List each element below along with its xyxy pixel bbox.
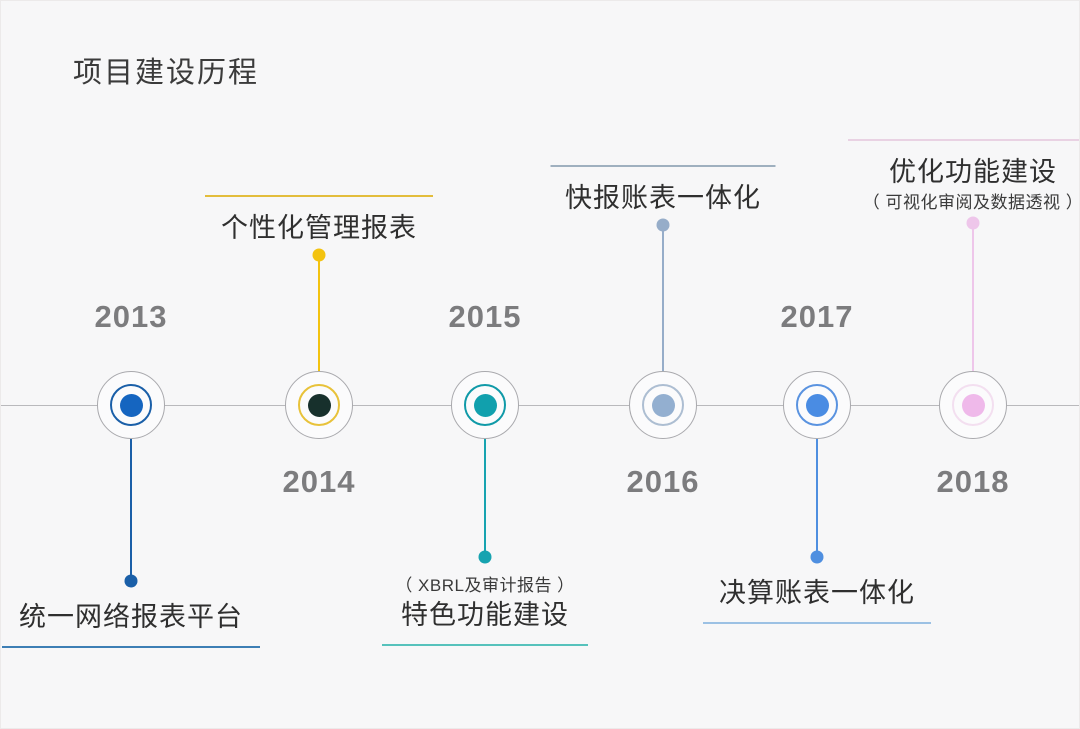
connector-endpoint-dot-2013	[125, 575, 138, 588]
connector-stem-2015	[484, 439, 486, 557]
connector-endpoint-dot-2014	[313, 249, 326, 262]
connector-endpoint-dot-2017	[811, 551, 824, 564]
callout-2015[interactable]: （ XBRL及审计报告 ）特色功能建设	[382, 575, 588, 646]
connector-stem-2013	[130, 439, 132, 581]
connector-stem-2016	[662, 225, 664, 371]
callout-headline: 优化功能建设	[848, 154, 1080, 190]
year-label-2018: 2018	[937, 464, 1010, 500]
timeline-node-2016[interactable]	[629, 371, 697, 439]
callout-subtitle: （ 可视化审阅及数据透视 ）	[848, 192, 1080, 214]
node-core-dot	[474, 394, 497, 417]
node-core-dot	[120, 394, 143, 417]
year-label-2016: 2016	[627, 464, 700, 500]
connector-stem-2014	[318, 255, 320, 371]
timeline-infographic: 项目建设历程 2013统一网络报表平台2014个性化管理报表2015（ XBRL…	[0, 0, 1080, 729]
callout-rule	[382, 644, 588, 646]
callout-headline: 个性化管理报表	[205, 210, 433, 246]
callout-2017[interactable]: 决算账表一体化	[703, 575, 931, 624]
callout-headline: 决算账表一体化	[703, 575, 931, 611]
connector-stem-2017	[816, 439, 818, 557]
connector-stem-2018	[972, 223, 974, 371]
callout-2016[interactable]: 快报账表一体化	[551, 165, 776, 216]
callout-2018[interactable]: 优化功能建设（ 可视化审阅及数据透视 ）	[848, 139, 1080, 214]
callout-rule	[551, 165, 776, 167]
timeline-node-2014[interactable]	[285, 371, 353, 439]
connector-endpoint-dot-2016	[657, 219, 670, 232]
timeline-node-2015[interactable]	[451, 371, 519, 439]
callout-rule	[848, 139, 1080, 141]
callout-headline: 特色功能建设	[382, 597, 588, 633]
connector-endpoint-dot-2015	[479, 551, 492, 564]
page-title: 项目建设历程	[73, 49, 259, 91]
callout-2013[interactable]: 统一网络报表平台	[2, 599, 260, 648]
timeline-node-2018[interactable]	[939, 371, 1007, 439]
timeline-node-2017[interactable]	[783, 371, 851, 439]
timeline-node-2013[interactable]	[97, 371, 165, 439]
year-label-2014: 2014	[283, 464, 356, 500]
year-label-2013: 2013	[95, 299, 168, 335]
node-core-dot	[962, 394, 985, 417]
callout-headline: 统一网络报表平台	[2, 599, 260, 635]
callout-2014[interactable]: 个性化管理报表	[205, 195, 433, 246]
callout-subtitle: （ XBRL及审计报告 ）	[382, 575, 588, 597]
year-label-2017: 2017	[781, 299, 854, 335]
callout-rule	[2, 646, 260, 648]
node-core-dot	[806, 394, 829, 417]
callout-rule	[703, 622, 931, 624]
year-label-2015: 2015	[449, 299, 522, 335]
callout-headline: 快报账表一体化	[551, 180, 776, 216]
node-core-dot	[308, 394, 331, 417]
node-core-dot	[652, 394, 675, 417]
callout-rule	[205, 195, 433, 197]
connector-endpoint-dot-2018	[967, 217, 980, 230]
